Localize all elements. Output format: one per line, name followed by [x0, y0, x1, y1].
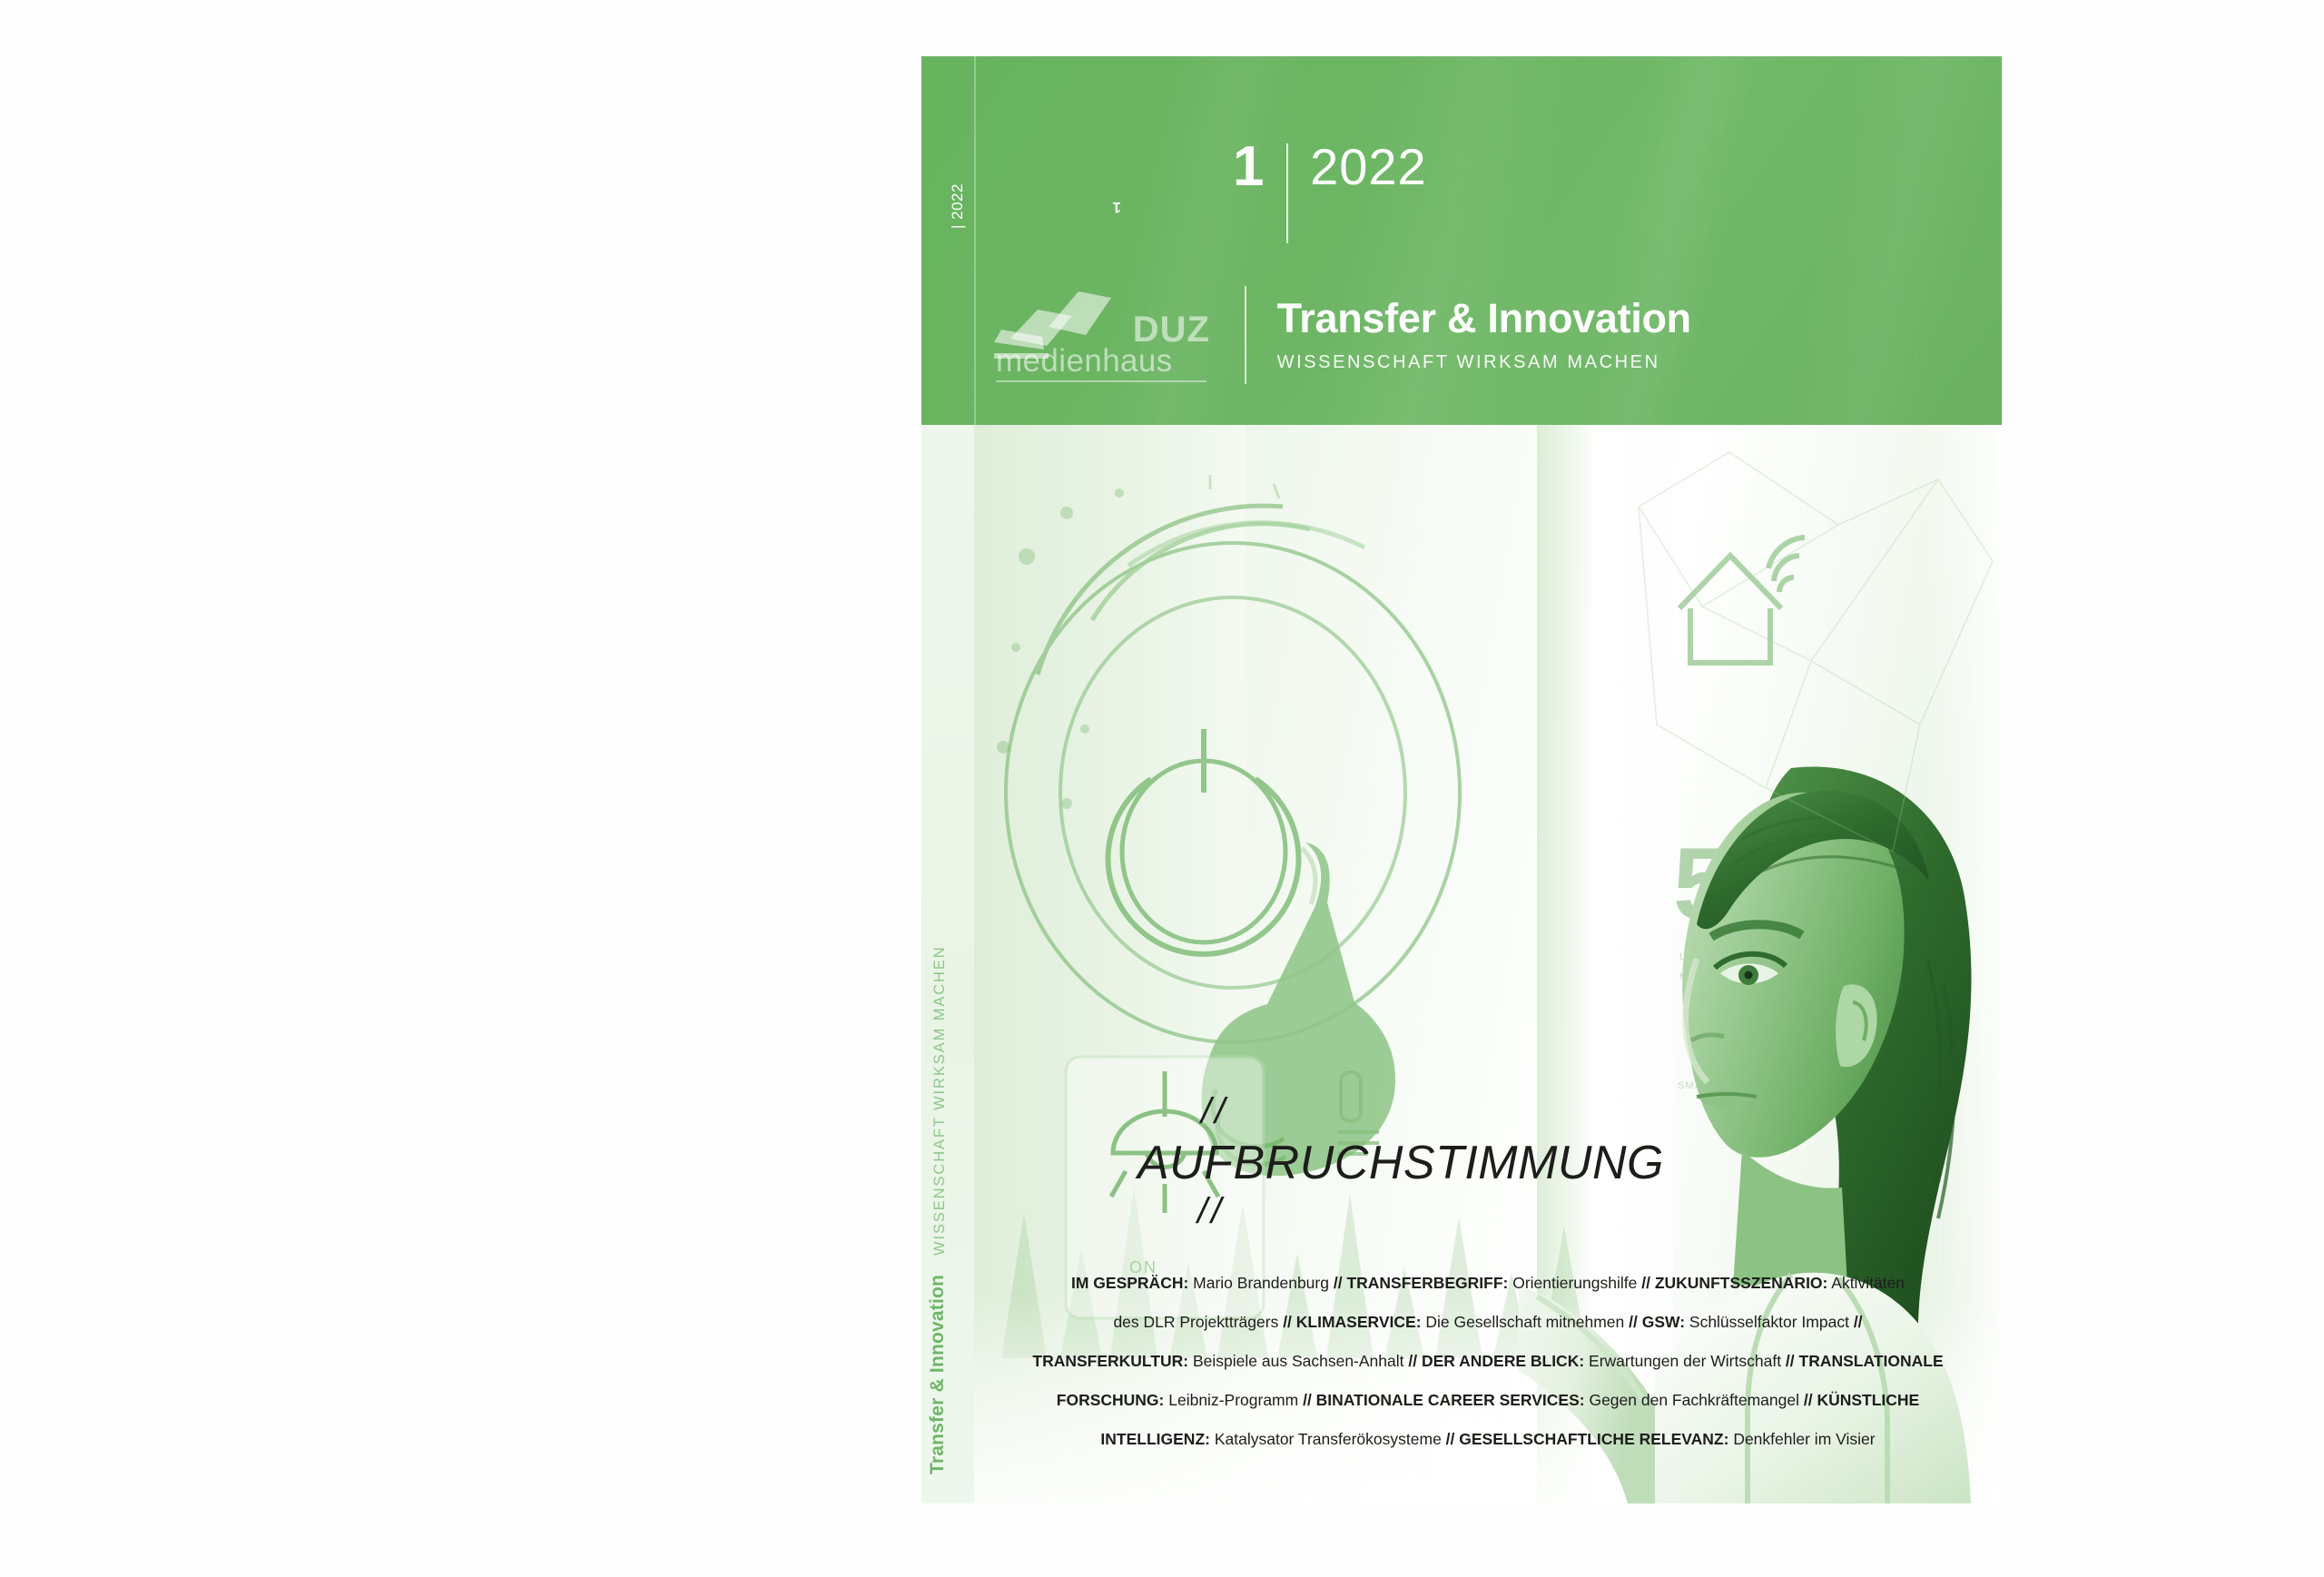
headline-slash-bottom: // [1197, 1193, 1664, 1229]
teaser-label: KLIMASERVICE: [1296, 1313, 1422, 1331]
teaser-line: INTELLIGENZ: Katalysator Transferökosyst… [1012, 1420, 1964, 1459]
magazine-title: Transfer & Innovation [1277, 297, 1691, 341]
logo-underline [996, 380, 1206, 382]
teaser-line: des DLR Projektträgers // KLIMASERVICE: … [1012, 1303, 1964, 1342]
spine-title: Transfer & Innovation [927, 1275, 949, 1474]
teaser-separator: // [1334, 1274, 1347, 1292]
teaser-label: BINATIONALE CAREER SERVICES: [1316, 1391, 1585, 1409]
headline-slash-top: // [1201, 1093, 1664, 1129]
title-block: Transfer & Innovation WISSENSCHAFT WIRKS… [1277, 297, 1691, 374]
duz-medienhaus-logo: DUZ medienhaus [992, 286, 1219, 384]
masthead-band: 1 | 2022 1 2022 [921, 56, 2002, 425]
teaser-label: KÜNSTLICHE [1817, 1391, 1919, 1409]
spine-subtitle: WISSENSCHAFT WIRKSAM MACHEN [931, 945, 949, 1256]
teaser-label: GESELLSCHAFTLICHE RELEVANZ: [1459, 1430, 1728, 1448]
teaser-label: IM GESPRÄCH: [1071, 1274, 1188, 1292]
issue-year: 2022 [1310, 142, 1427, 192]
teaser-separator: // [1854, 1313, 1863, 1331]
teaser-text: des DLR Projektträgers [1113, 1313, 1283, 1331]
teaser-text: Denkfehler im Visier [1728, 1430, 1875, 1448]
teaser-label: ZUKUNFTSSZENARIO: [1655, 1274, 1828, 1292]
vertical-issue-year: 2022 [949, 183, 966, 220]
teaser-text: Orientierungshilfe [1508, 1274, 1641, 1292]
teaser-text: Erwartungen der Wirtschaft [1584, 1352, 1786, 1370]
teaser-text: Beispiele aus Sachsen-Anhalt [1188, 1352, 1408, 1370]
teaser-label: TRANSFERBEGRIFF: [1346, 1274, 1508, 1292]
vertical-issue-text: 1 | 2022 [949, 183, 967, 229]
teaser-label: GSW: [1642, 1313, 1685, 1331]
issue-divider [1286, 143, 1288, 243]
teaser-text: Mario Brandenburg [1188, 1274, 1334, 1292]
magazine-subtitle: WISSENSCHAFT WIRKSAM MACHEN [1277, 352, 1691, 373]
teaser-label: DER ANDERE BLICK: [1422, 1352, 1584, 1370]
teaser-label: TRANSLATIONALE [1799, 1352, 1944, 1370]
teaser-separator: // [1804, 1391, 1817, 1409]
teaser-separator: // [1446, 1430, 1460, 1448]
teaser-separator: // [1303, 1391, 1316, 1409]
teaser-separator: // [1408, 1352, 1422, 1370]
teaser-list: IM GESPRÄCH: Mario Brandenburg // TRANSF… [974, 1264, 2002, 1458]
teaser-text: Gegen den Fachkräftemangel [1585, 1391, 1804, 1409]
cover-headline: // AUFBRUCHSTIMMUNG // [1137, 1093, 1664, 1229]
teaser-label: INTELLIGENZ: [1100, 1430, 1210, 1448]
issue-number: 1 [1233, 142, 1263, 192]
teaser-text: Aktivitäten [1827, 1274, 1905, 1292]
teaser-label: FORSCHUNG: [1057, 1391, 1165, 1409]
network-overlay [1620, 425, 2002, 970]
vertical-issue-marker: 1 | 2022 [936, 56, 978, 425]
teaser-separator: // [1641, 1274, 1655, 1292]
vertical-issue-number: 1 [1112, 198, 1121, 216]
teaser-separator: // [1786, 1352, 1799, 1370]
teaser-text: Leibniz-Programm [1164, 1391, 1303, 1409]
teaser-label: TRANSFERKULTUR: [1032, 1352, 1188, 1370]
teaser-line: FORSCHUNG: Leibniz-Programm // BINATIONA… [1012, 1381, 1964, 1420]
teaser-text: Katalysator Transferökosysteme [1210, 1430, 1446, 1448]
logo-medienhaus-wordmark: medienhaus [996, 343, 1173, 379]
teaser-separator: // [1283, 1313, 1296, 1331]
vertical-issue-divider: | [949, 220, 966, 229]
teaser-separator: // [1629, 1313, 1642, 1331]
cover-spine: Transfer & Innovation WISSENSCHAFT WIRKS… [921, 425, 974, 1503]
teaser-text: Schlüsselfaktor Impact [1685, 1313, 1854, 1331]
teaser-line: TRANSFERKULTUR: Beispiele aus Sachsen-An… [1012, 1342, 1964, 1381]
teaser-text: Die Gesellschaft mitnehmen [1422, 1313, 1630, 1331]
brand-divider-rule [1245, 286, 1246, 384]
issue-block: 1 2022 [1233, 142, 1427, 243]
magazine-cover: 1 | 2022 1 2022 [921, 56, 2002, 1503]
headline-text: AUFBRUCHSTIMMUNG [1137, 1136, 1664, 1191]
teaser-line: IM GESPRÄCH: Mario Brandenburg // TRANSF… [1012, 1264, 1964, 1303]
page-canvas: 1 | 2022 1 2022 [0, 0, 2324, 1577]
brand-row: DUZ medienhaus Transfer & Innovation WIS… [992, 285, 1945, 385]
